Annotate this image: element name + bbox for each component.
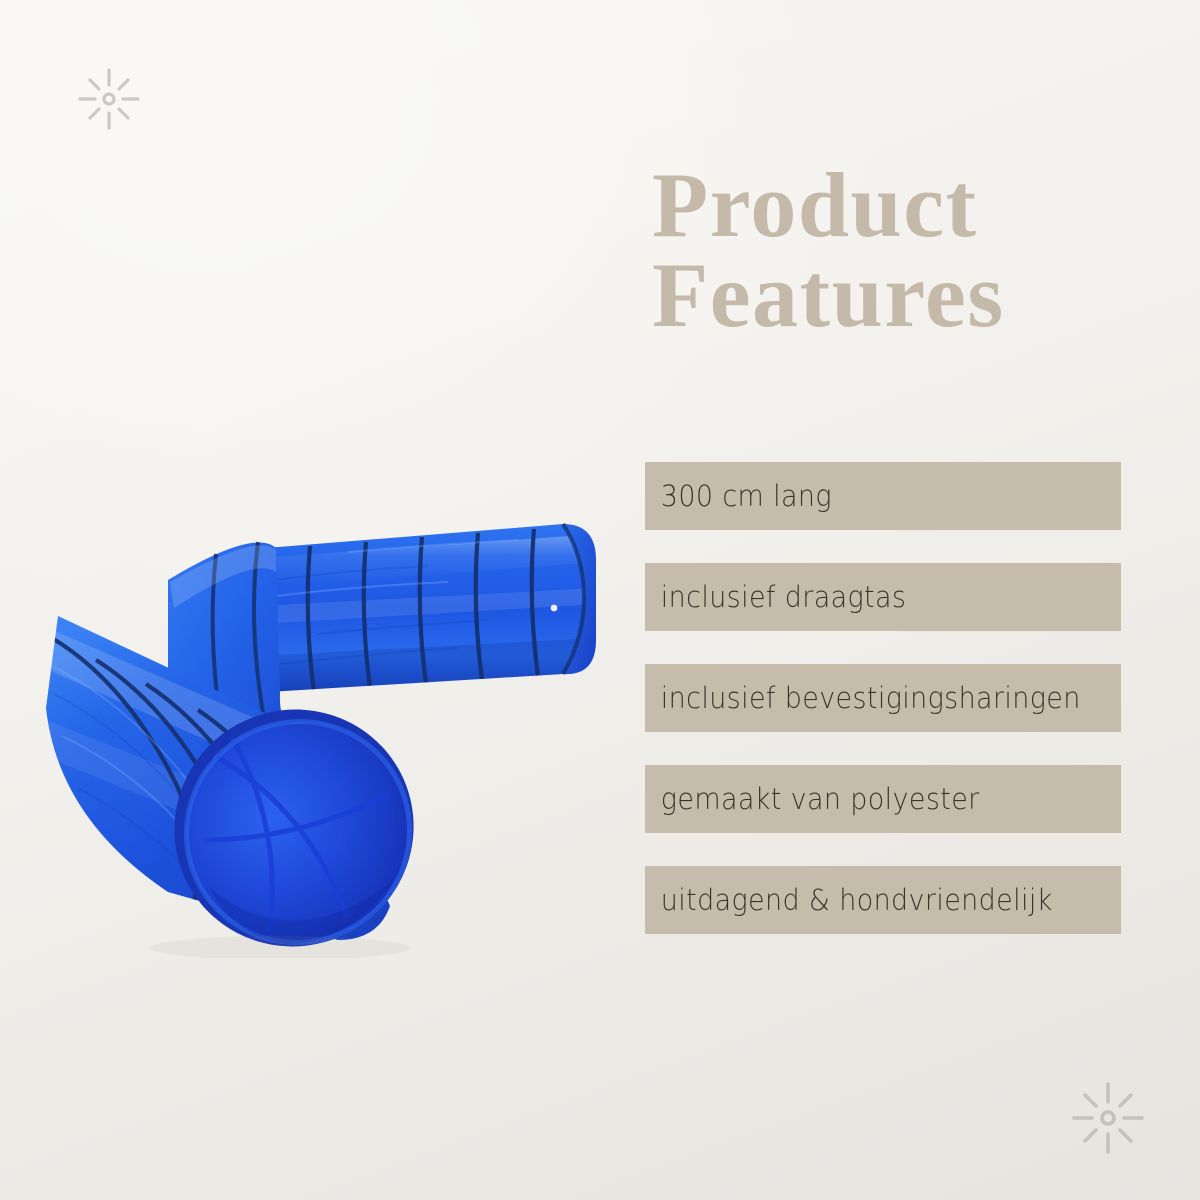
feature-item: inclusief draagtas (645, 563, 1121, 631)
poster-canvas: Product Features 300 cm lang inclusief d… (0, 0, 1200, 1200)
page-title-line-1: Product (652, 160, 1152, 250)
feature-item: 300 cm lang (645, 462, 1121, 530)
feature-label: inclusief bevestigingsharingen (645, 681, 1081, 715)
feature-item: uitdagend & hondvriendelijk (645, 866, 1121, 934)
sun-icon-top-left (78, 68, 140, 130)
tunnel-far-arm (258, 524, 598, 702)
feature-label: inclusief draagtas (645, 580, 906, 614)
feature-list: 300 cm lang inclusief draagtas inclusief… (645, 462, 1121, 934)
feature-item: inclusief bevestigingsharingen (645, 664, 1121, 732)
page-title: Product Features (652, 160, 1152, 340)
grommet-hole (551, 605, 558, 612)
product-image (18, 488, 618, 958)
feature-label: gemaakt van polyester (645, 782, 980, 816)
feature-label: uitdagend & hondvriendelijk (645, 883, 1053, 917)
feature-item: gemaakt van polyester (645, 765, 1121, 833)
page-title-line-2: Features (652, 250, 1152, 340)
feature-label: 300 cm lang (645, 479, 832, 513)
sun-icon-bottom-right (1072, 1082, 1144, 1154)
